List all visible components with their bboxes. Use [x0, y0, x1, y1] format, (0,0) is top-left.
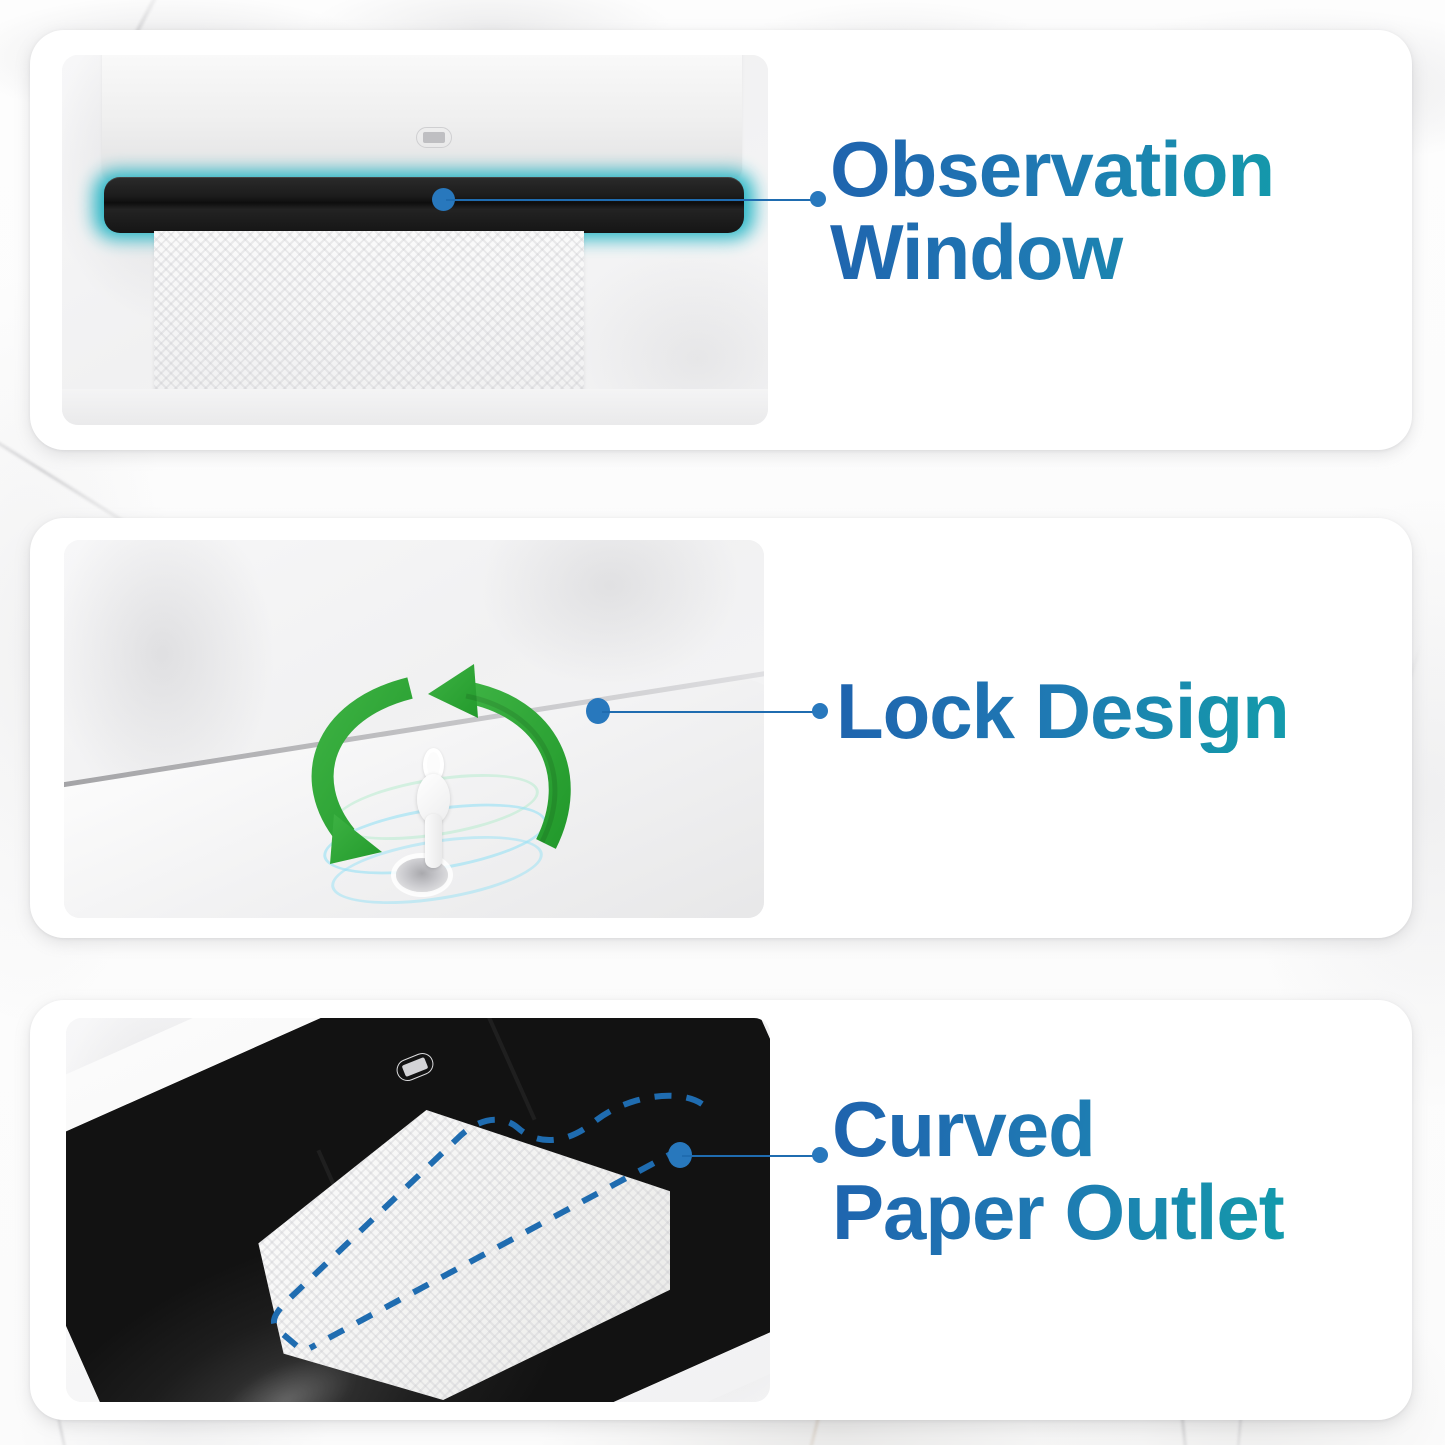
callout-text-dot-3 — [812, 1147, 828, 1163]
curved-outlet-dashed-outline — [66, 1018, 770, 1402]
callout-text-dot-2 — [812, 703, 828, 719]
callout-text-dot-1 — [810, 191, 826, 207]
rotation-arrows-icon — [278, 656, 608, 886]
feature-heading-lock-design: Lock Design — [836, 670, 1416, 753]
counter-surface — [62, 389, 768, 425]
dispenser-body — [102, 55, 742, 179]
callout-line-1 — [446, 199, 816, 201]
callout-line-2 — [602, 711, 816, 713]
callout-line-3 — [682, 1155, 816, 1157]
feature-heading-observation-window: Observation Window — [830, 128, 1420, 295]
photo-observation-window — [62, 55, 768, 425]
feature-card-observation-window: Observation Window — [30, 30, 1412, 450]
observation-window — [104, 177, 744, 233]
feature-heading-curved-paper-outlet: Curved Paper Outlet — [832, 1088, 1432, 1255]
callout-connector-3 — [682, 1154, 816, 1157]
feature-card-curved-paper-outlet: Curved Paper Outlet — [30, 1000, 1412, 1420]
paper-towel-sheet — [154, 231, 584, 407]
callout-connector-1 — [446, 198, 816, 201]
product-feature-infographic: Observation Window — [0, 0, 1445, 1445]
feature-card-lock-design: Lock Design — [30, 518, 1412, 938]
callout-connector-2 — [602, 710, 816, 713]
photo-curved-paper-outlet — [66, 1018, 770, 1402]
towel-dispenser-icon — [416, 127, 452, 148]
photo-lock-design — [64, 540, 764, 918]
